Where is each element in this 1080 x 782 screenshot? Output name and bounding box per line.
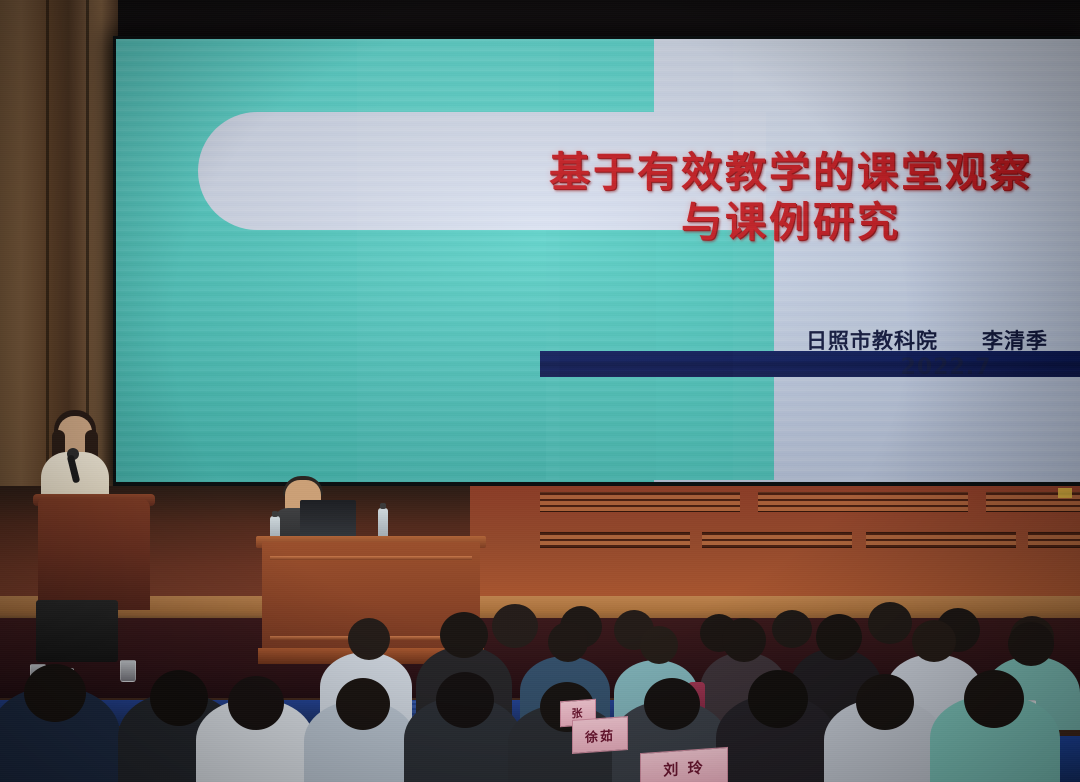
audience-head (548, 622, 588, 662)
name-placard: 徐茹 (572, 716, 628, 754)
laptop (300, 500, 356, 538)
audience-head-foreground (24, 664, 86, 722)
slide-surface: 基于有效教学的课堂观察 与课例研究 日照市教科院 李清季 2022.7 (116, 39, 1080, 482)
audience-head (348, 618, 390, 660)
name-placard: 刘 玲 (640, 747, 728, 782)
audience-head (722, 618, 766, 662)
audience-head (816, 614, 862, 660)
slide-title: 基于有效教学的课堂观察 与课例研究 (446, 147, 1080, 247)
audience-head (640, 626, 678, 664)
audience-head (492, 604, 538, 648)
audience-head-foreground (336, 678, 390, 730)
audience-head (1008, 622, 1054, 666)
audience-head (912, 620, 956, 662)
audience-head-foreground (748, 670, 808, 728)
audience-head-foreground (228, 676, 284, 730)
slide-presenter-line: 日照市教科院 李清季 (806, 325, 1080, 355)
audience-head-foreground (150, 670, 208, 726)
audience-head (772, 610, 812, 648)
audience-head (440, 612, 488, 658)
upper-dark-wall (118, 0, 1080, 40)
audience-head-foreground (856, 674, 914, 730)
audience-head-foreground (964, 670, 1024, 728)
audience-area: 张 徐茹 刘 玲 (0, 560, 1080, 782)
drinking-glass (120, 660, 136, 682)
screenshot-root: 基于有效教学的课堂观察 与课例研究 日照市教科院 李清季 2022.7 (0, 0, 1080, 782)
slide-date: 2022.7 (806, 355, 1080, 380)
audience-head (868, 602, 912, 644)
audience-head-foreground (644, 678, 700, 730)
audience-head-foreground (436, 672, 494, 728)
projection-screen: 基于有效教学的课堂观察 与课例研究 日照市教科院 李清季 2022.7 (113, 36, 1080, 486)
